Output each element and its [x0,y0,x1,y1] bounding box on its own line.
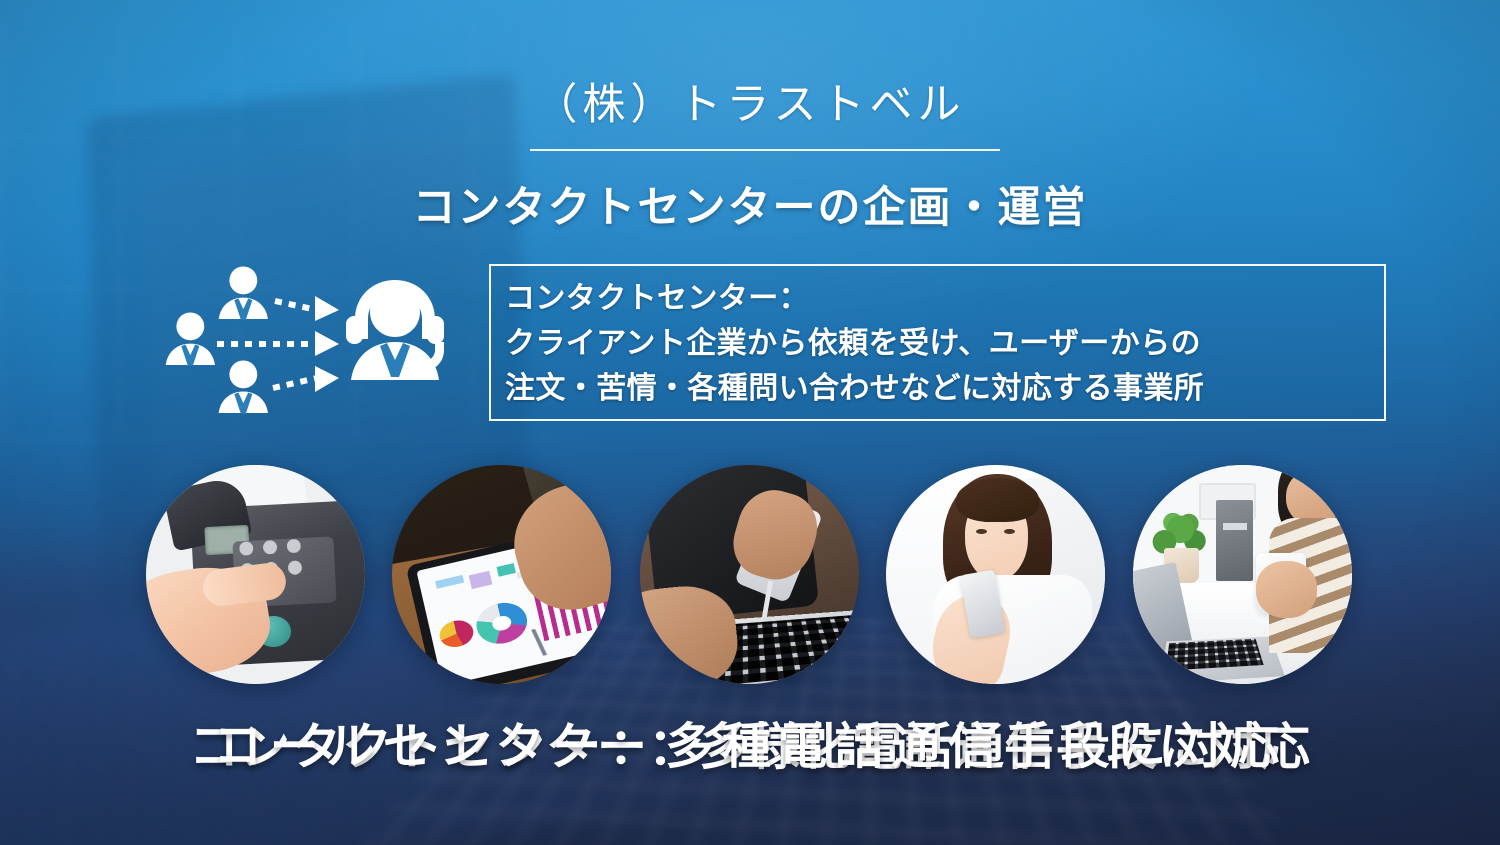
presentation-slide: （株）トラストベル コンタクトセンターの企画・運営 [0,0,1500,845]
smartphone-user-photo [886,465,1105,684]
bottom-headline-layer-b: コールセンター：多種電話通信手段に対応 [0,700,1500,795]
laptop-coffee-photo [1133,465,1352,684]
tablet-charts-photo [392,465,611,684]
bottom-headline-zone: コンタクトセンター：多様化電話通信手段に対応 コールセンター：多種電話通信手段に… [0,700,1500,810]
fax-machine-photo [146,465,365,684]
keyboard-phone-photo [640,465,859,684]
